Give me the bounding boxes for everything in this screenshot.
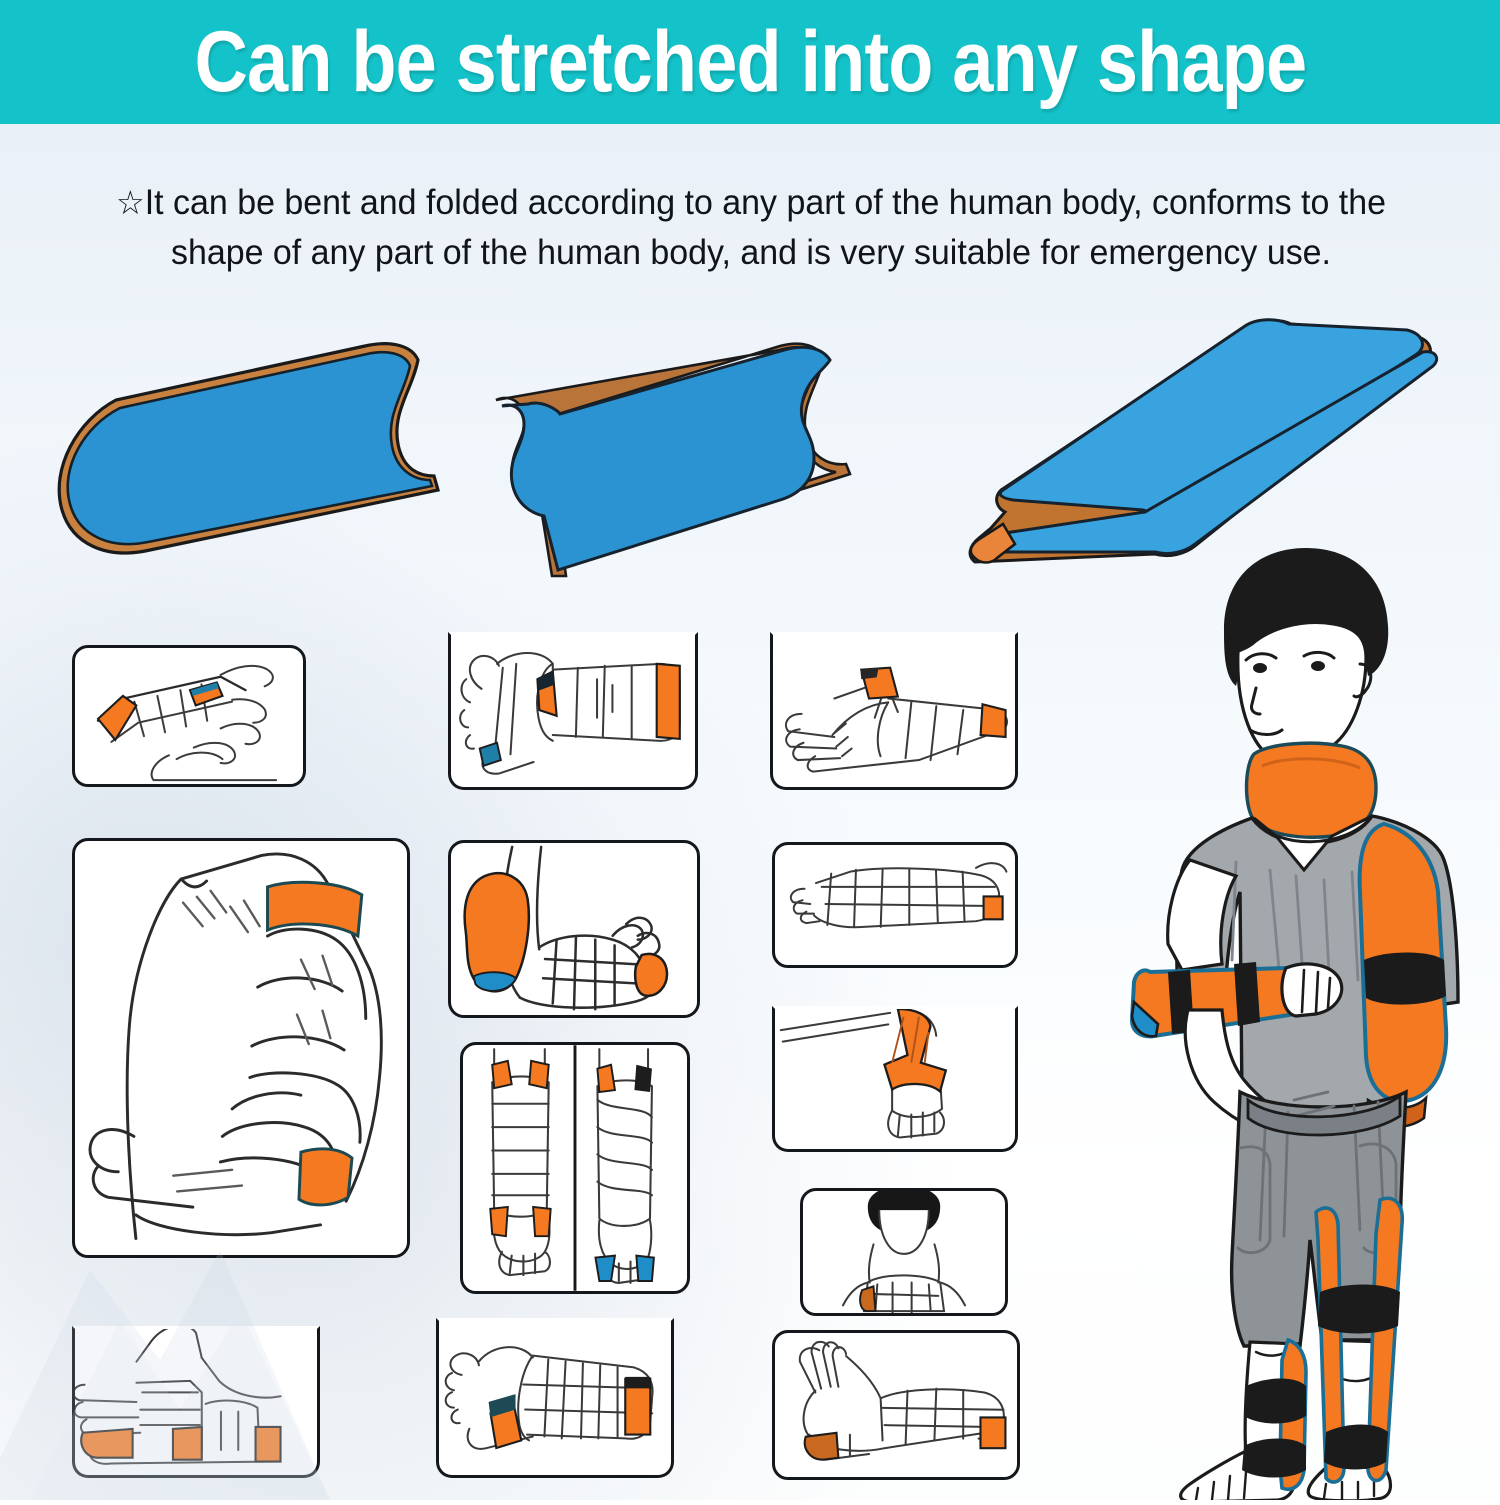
infographic-page: Can be stretched into any shape ☆It can …: [0, 0, 1500, 1500]
subtitle-body: It can be bent and folded according to a…: [145, 183, 1386, 272]
splint-pad-orange: [980, 1417, 1005, 1448]
eye-right: [1311, 661, 1325, 671]
splint-pad-blue: [595, 1256, 614, 1281]
splint-pad-orange: [81, 1429, 132, 1458]
splint-pad-orange: [635, 954, 667, 996]
splint-pad-orange: [657, 664, 680, 739]
left-leg-strap-2: [1242, 1439, 1306, 1478]
splint-pad-blue: [636, 1256, 654, 1281]
right-leg-strap-2: [1324, 1425, 1388, 1470]
splint-pad-blue: [480, 743, 501, 766]
panel-lower-leg-pair: [460, 1042, 690, 1294]
splint-pad-orange: [805, 1433, 839, 1460]
splint-pad-orange: [98, 696, 136, 740]
subtitle-text: ☆It can be bent and folded according to …: [67, 178, 1435, 277]
right-leg-strap-1: [1318, 1285, 1400, 1334]
splint-pad-dark: [634, 1065, 652, 1092]
splint-pad-orange: [981, 704, 1006, 737]
panel-foot-splint: [772, 1330, 1020, 1480]
panel-hand-finger: [72, 1326, 320, 1478]
right-hand: [1282, 964, 1342, 1016]
splint-shadow: [625, 1377, 650, 1389]
splint-pad-orange: [268, 882, 362, 936]
star-icon: ☆: [116, 184, 145, 221]
splint-pad-orange: [173, 1427, 202, 1460]
panel-forearm-long: [772, 842, 1018, 968]
splint-pad-orange: [490, 1207, 508, 1236]
panel-ankle-foot: [448, 840, 700, 1018]
splint-pad-orange: [884, 1009, 945, 1091]
flat-splint-face: [68, 352, 432, 544]
splint-pad-orange: [492, 1061, 511, 1088]
flat-splint-panel: [20, 328, 470, 578]
wavy-splint-panel: [480, 308, 940, 598]
splint-pad-blue: [474, 972, 517, 991]
splint-pad-orange: [597, 1065, 615, 1092]
panel-forearm-bandage: [436, 1318, 674, 1478]
splint-pad-orange: [860, 1286, 875, 1311]
panel-neck-collar: [800, 1188, 1008, 1316]
panel-ankle-cross-wrap: [772, 1006, 1018, 1152]
upper-arm-strap: [1364, 953, 1446, 1005]
splint-pad-orange: [256, 1427, 281, 1462]
left-leg-strap-1: [1244, 1379, 1306, 1424]
splint-pad-orange: [984, 896, 1003, 919]
patient-figure: [1128, 540, 1500, 1500]
panel-hand-thumb: [770, 632, 1018, 790]
header-banner: Can be stretched into any shape: [0, 0, 1500, 124]
splint-pad-orange: [533, 1207, 551, 1236]
splint-pad-orange: [529, 1061, 548, 1088]
panel-arm-elbow: [72, 838, 410, 1258]
forearm-strap-2: [1234, 962, 1260, 1026]
face: [879, 1210, 929, 1254]
page-title: Can be stretched into any shape: [194, 19, 1306, 105]
panel-forearm-side: [448, 632, 698, 790]
panel-wrist-wrap: [72, 645, 306, 787]
eye-left: [1253, 663, 1267, 673]
splint-pad-orange: [299, 1149, 352, 1205]
